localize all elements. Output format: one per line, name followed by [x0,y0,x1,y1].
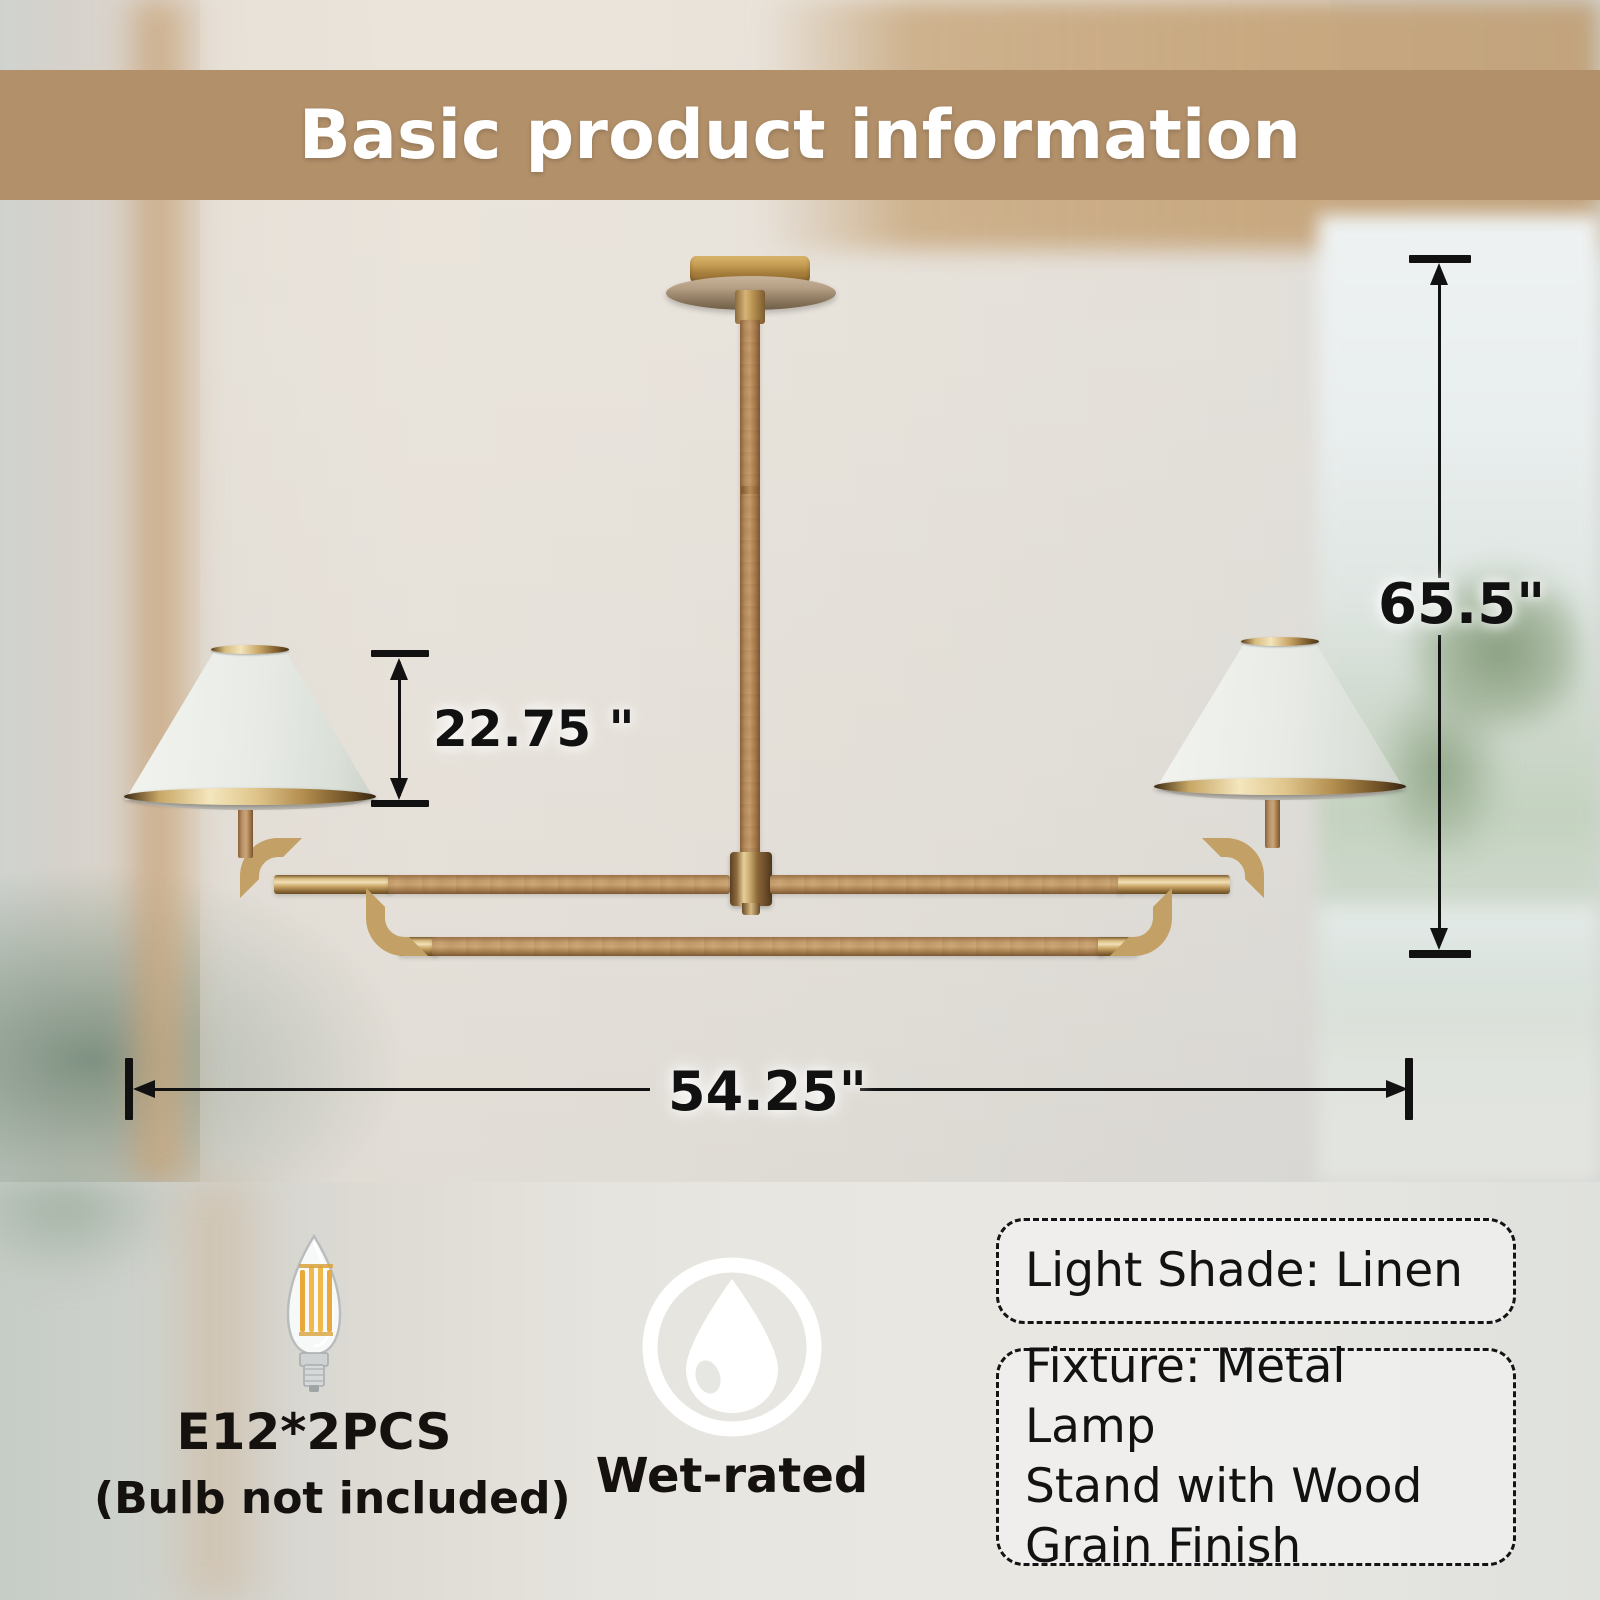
bulb-title: E12*2PCS [94,1403,534,1461]
shade-height-arrow-down [390,778,408,800]
spec-box-light-shade: Light Shade: Linen [996,1218,1516,1324]
upper-arm-wood-right [770,875,1122,894]
shade-height-label: 22.75 " [433,700,635,758]
shade-height-arrow-up [390,658,408,680]
overall-height-line-upper [1438,268,1441,578]
overall-width-arrow-left [133,1080,155,1098]
overall-height-bottom-tick [1409,950,1471,958]
down-rod-joint [741,486,759,494]
bulb-subtitle: (Bulb not included) [94,1473,534,1524]
lower-bar-wood [432,937,1104,956]
chandelier-product-image [0,0,1600,1182]
feature-wet-rated: Wet-rated [522,1255,942,1504]
shade-height-bottom-tick [371,800,429,807]
overall-height-arrow-up [1430,263,1448,285]
center-hub [730,852,772,906]
overall-width-arrow-right [1386,1080,1408,1098]
wet-rated-icon-wrap [522,1255,942,1450]
right-lamp-shade-top-trim [1241,637,1319,646]
candelabra-filament-bulb-icon [94,1222,534,1397]
shade-height-line [398,662,401,796]
left-lamp-shade-bottom-trim [124,788,376,805]
overall-height-label: 65.5" [1378,572,1545,637]
left-lamp-shade-top-trim [211,645,289,654]
center-hub-cap [742,903,760,915]
overall-width-line-left [150,1088,650,1091]
spec-fixture-text: Fixture: Metal Lamp Stand with Wood Grai… [1025,1337,1487,1578]
lower-bar-elbow-right [1110,888,1172,956]
overall-height-line-lower [1438,635,1441,935]
overall-width-label: 54.25" [668,1060,867,1123]
right-lamp-shade-bottom-trim [1154,778,1406,795]
water-droplet-in-circle-icon [522,1255,942,1450]
right-lamp-shade [1155,640,1405,790]
spec-box-fixture: Fixture: Metal Lamp Stand with Wood Grai… [996,1348,1516,1566]
feature-bulb: E12*2PCS (Bulb not included) [94,1222,534,1524]
canopy-collar [735,290,765,324]
spec-light-shade-text: Light Shade: Linen [1025,1241,1463,1301]
overall-height-arrow-down [1430,928,1448,950]
left-lamp-shade [125,648,375,800]
bulb-icon-wrap [94,1222,534,1397]
overall-width-line-right [860,1088,1390,1091]
upper-arm-wood-left [388,875,730,894]
down-rod [740,320,760,870]
upper-arm-elbow-right [1202,838,1264,898]
wet-rated-title: Wet-rated [522,1448,942,1504]
overall-height-top-tick [1409,255,1471,263]
overall-width-left-tick [125,1058,133,1120]
lower-bar-elbow-left [366,888,428,956]
shade-height-top-tick [371,650,429,657]
